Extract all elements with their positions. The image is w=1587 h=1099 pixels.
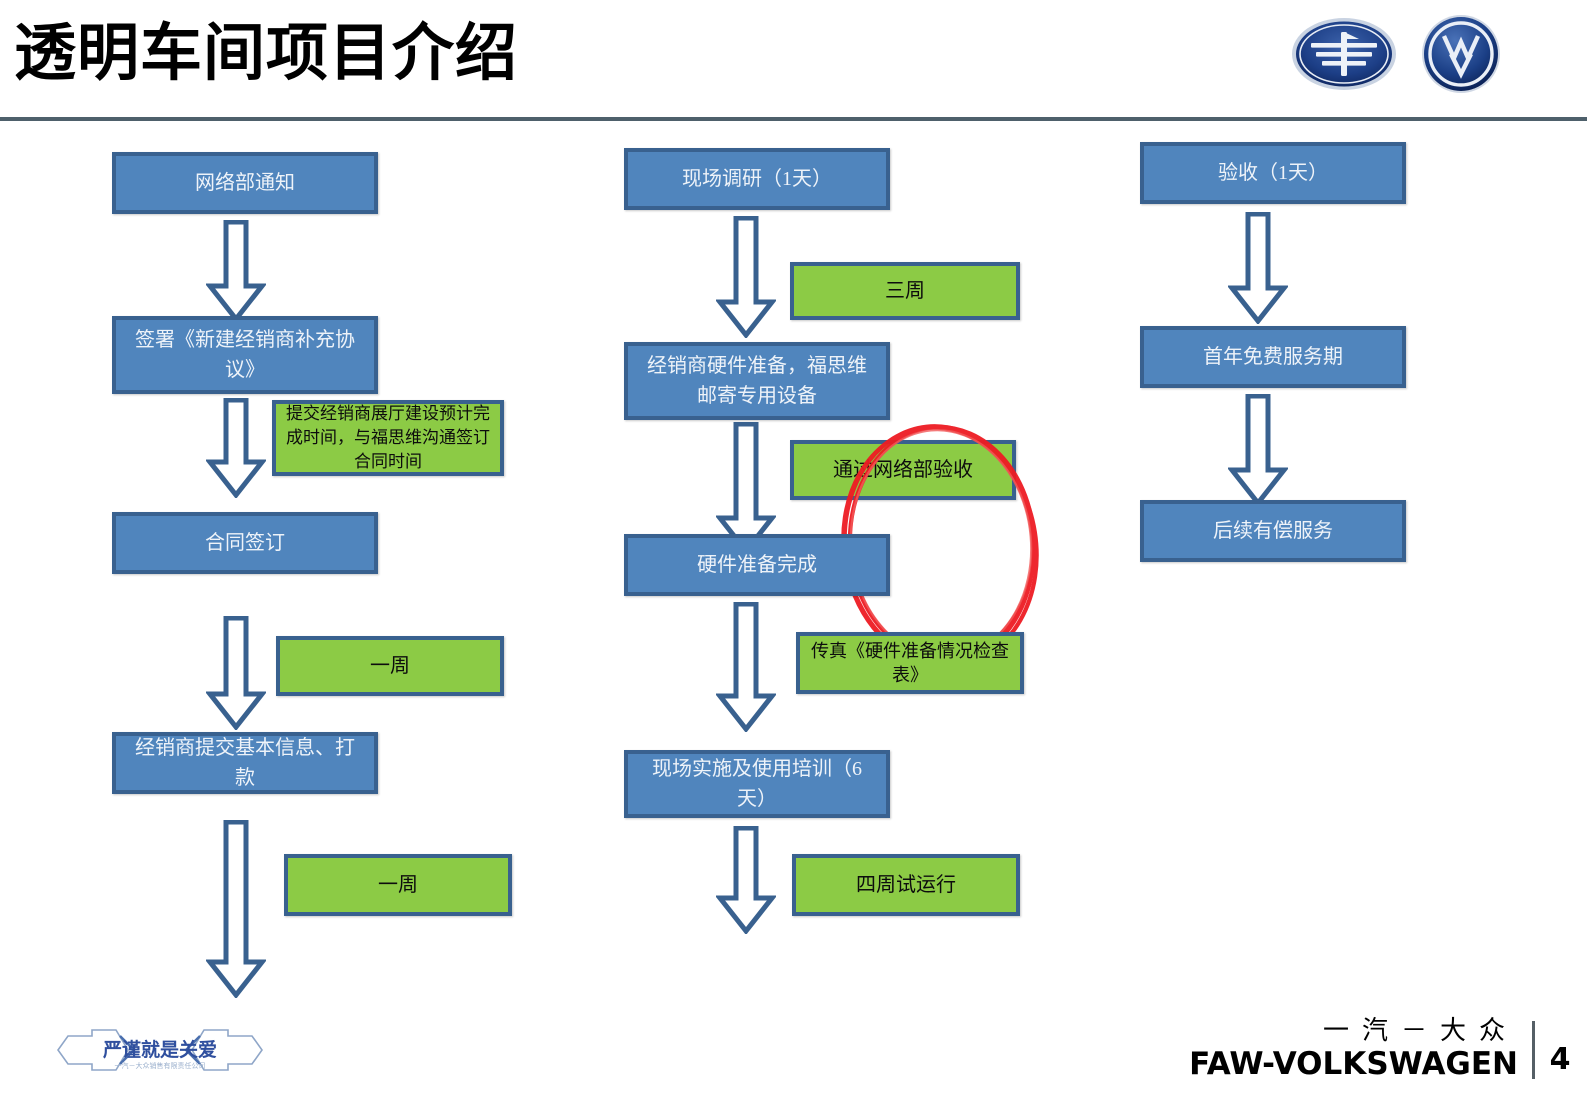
flow-node-site-survey[interactable]: 现场调研（1天） (624, 148, 890, 210)
flow-node-pass-network-dept-acceptance[interactable]: 通过网络部验收 (790, 440, 1016, 500)
flow-node-four-week-trial-run[interactable]: 四周试运行 (792, 854, 1020, 916)
node-label: 通过网络部验收 (804, 455, 1002, 485)
flow-node-fax-hardware-checklist[interactable]: 传真《硬件准备情况检查表》 (796, 632, 1024, 694)
slogan-logo: 严谨就是关爱 一汽－大众销售有限责任公司 (54, 1022, 266, 1083)
flow-arrow-c3-2 (1228, 394, 1288, 506)
page-title: 透明车间项目介绍 (14, 16, 518, 90)
footer-brand-names: 一汽－大众 FAW-VOLKSWAGEN (1189, 1016, 1518, 1082)
node-label: 后续有偿服务 (1154, 516, 1392, 546)
flow-arrow-c2-4 (716, 826, 776, 934)
footer-brand: 一汽－大众 FAW-VOLKSWAGEN 4 (1189, 1016, 1571, 1082)
volkswagen-logo (1421, 14, 1501, 94)
flow-arrow-c2-1 (716, 216, 776, 338)
slide-header: 透明车间项目介绍 (0, 0, 1587, 120)
node-label: 经销商硬件准备，福思维邮寄专用设备 (638, 351, 876, 411)
flow-node-acceptance[interactable]: 验收（1天） (1140, 142, 1406, 204)
flow-node-sign-supplementary-agreement[interactable]: 签署《新建经销商补充协议》 (112, 316, 378, 394)
page-number: 4 (1549, 1042, 1571, 1082)
svg-text:一汽－大众销售有限责任公司: 一汽－大众销售有限责任公司 (115, 1061, 206, 1070)
flow-arrow-c1-4 (206, 820, 266, 998)
node-label: 硬件准备完成 (638, 550, 876, 580)
flow-node-one-week-b[interactable]: 一周 (284, 854, 512, 916)
flow-node-onsite-implementation-training[interactable]: 现场实施及使用培训（6天） (624, 750, 890, 818)
node-label: 现场实施及使用培训（6天） (638, 754, 876, 814)
node-label: 经销商提交基本信息、打款 (126, 733, 364, 793)
faw-logo (1289, 15, 1399, 93)
flow-node-subsequent-paid-service[interactable]: 后续有偿服务 (1140, 500, 1406, 562)
flow-node-first-year-free-service[interactable]: 首年免费服务期 (1140, 326, 1406, 388)
flow-node-three-weeks[interactable]: 三周 (790, 262, 1020, 320)
flow-node-submit-showroom-completion-time[interactable]: 提交经销商展厅建设预计完成时间，与福思维沟通签订合同时间 (272, 400, 504, 476)
footer-brand-cn: 一汽－大众 (1189, 1016, 1518, 1046)
node-label: 验收（1天） (1154, 158, 1392, 188)
flow-arrow-c1-1 (206, 220, 266, 322)
flow-arrow-c3-1 (1228, 212, 1288, 324)
flow-node-contract-signed[interactable]: 合同签订 (112, 512, 378, 574)
node-label: 签署《新建经销商补充协议》 (126, 325, 364, 385)
flow-node-hardware-prep-complete[interactable]: 硬件准备完成 (624, 534, 890, 596)
node-label: 四周试运行 (806, 870, 1006, 900)
slogan-text: 严谨就是关爱 (103, 1038, 217, 1061)
node-label: 首年免费服务期 (1154, 342, 1392, 372)
node-label: 现场调研（1天） (638, 164, 876, 194)
node-label: 一周 (290, 651, 490, 681)
flow-node-network-dept-notice[interactable]: 网络部通知 (112, 152, 378, 214)
footer-brand-en: FAW-VOLKSWAGEN (1189, 1046, 1518, 1082)
flow-arrow-c1-3 (206, 616, 266, 730)
node-label: 三周 (804, 276, 1006, 306)
slide-footer: 严谨就是关爱 一汽－大众销售有限责任公司 一汽－大众 FAW-VOLKSWAGE… (0, 1000, 1587, 1099)
node-label: 提交经销商展厅建设预计完成时间，与福思维沟通签订合同时间 (286, 402, 490, 474)
flow-arrow-c1-2 (206, 398, 266, 498)
flow-node-dealer-hardware-prep[interactable]: 经销商硬件准备，福思维邮寄专用设备 (624, 342, 890, 420)
node-label: 一周 (298, 870, 498, 900)
node-label: 传真《硬件准备情况检查表》 (810, 639, 1010, 687)
footer-divider (1532, 1021, 1535, 1079)
flow-arrow-c2-3 (716, 602, 776, 732)
brand-logo-group (1289, 14, 1501, 94)
node-label: 网络部通知 (126, 168, 364, 198)
flow-node-dealer-submit-info-payment[interactable]: 经销商提交基本信息、打款 (112, 732, 378, 794)
flow-node-one-week-a[interactable]: 一周 (276, 636, 504, 696)
flowchart: 网络部通知 签署《新建经销商补充协议》 提交经销商展厅建设预计完成时间，与福思维… (0, 120, 1587, 1010)
node-label: 合同签订 (126, 528, 364, 558)
